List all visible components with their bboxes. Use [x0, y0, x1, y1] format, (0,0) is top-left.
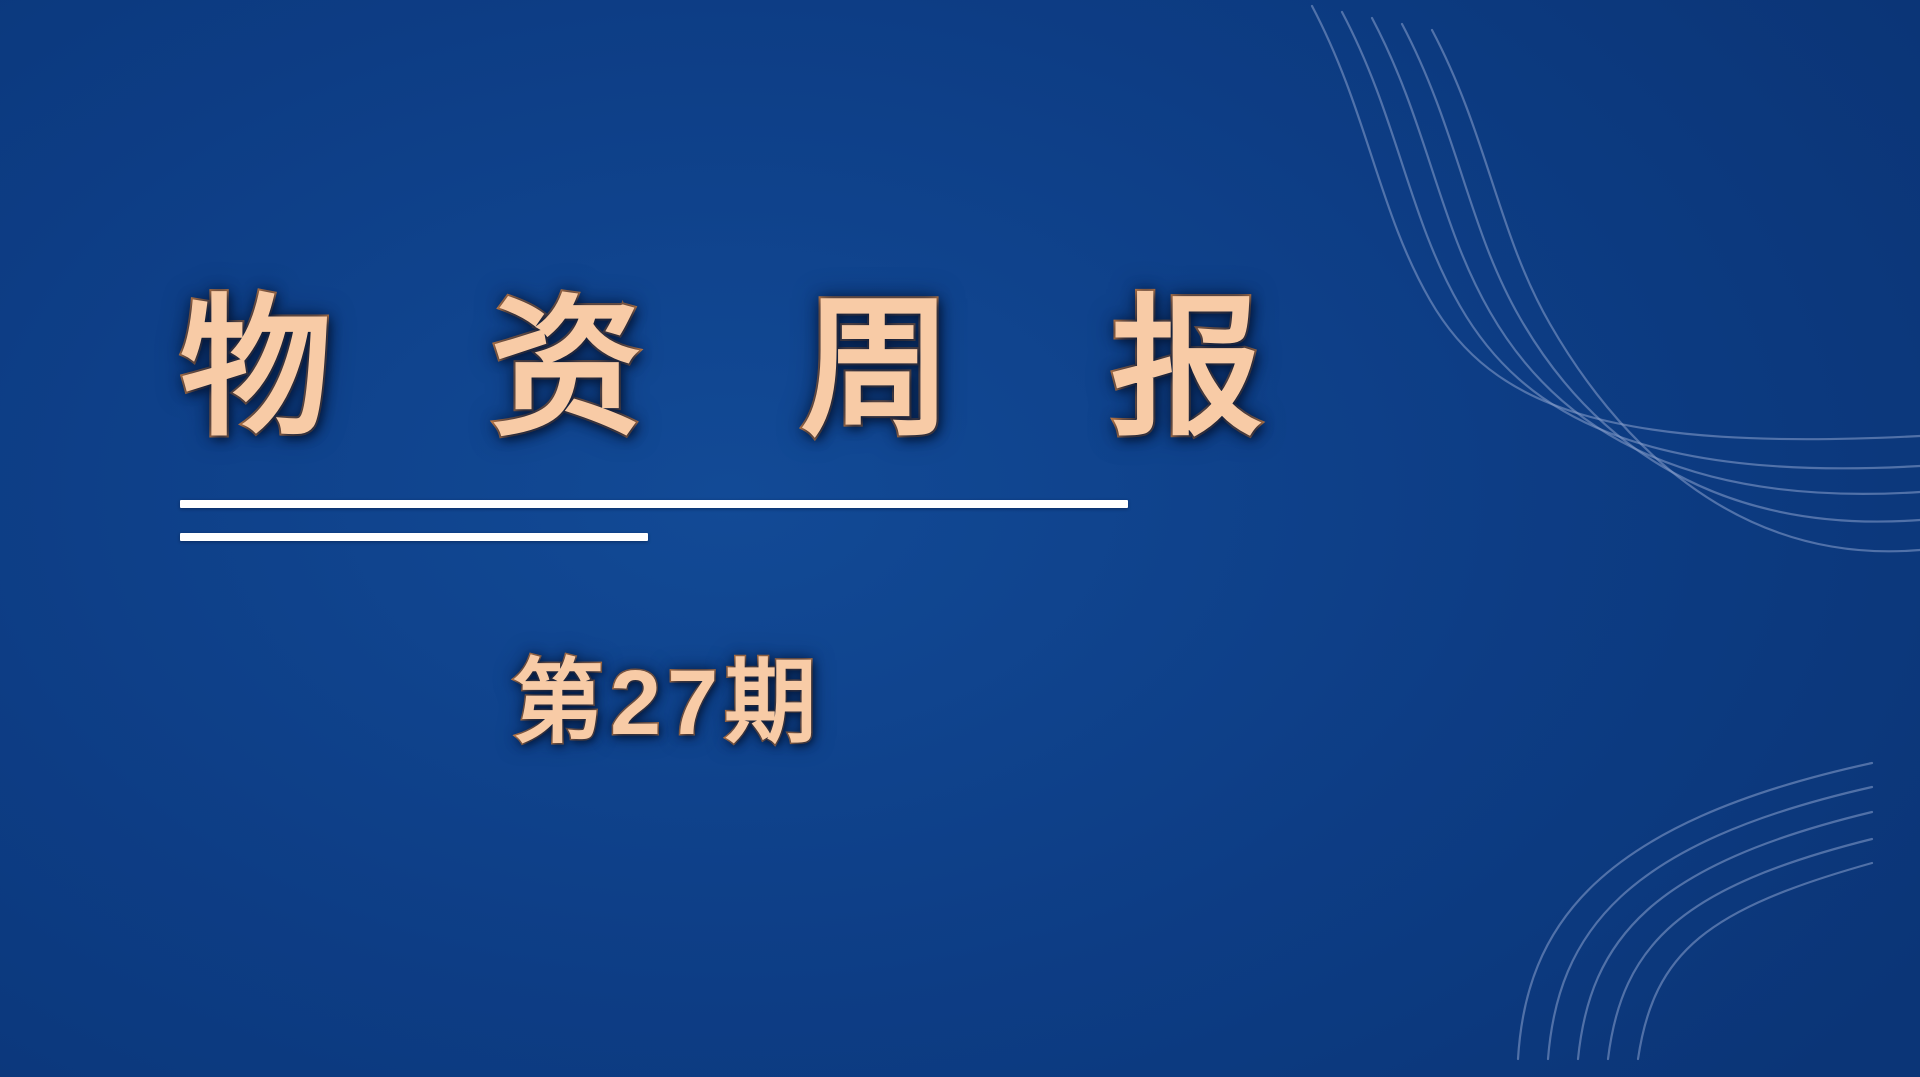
arc-line-2 — [1548, 787, 1872, 1059]
title-block: 物 资 周 报 — [180, 280, 1180, 459]
arc-line-1 — [1518, 763, 1872, 1059]
subtitle-block: 第27期 — [512, 648, 822, 758]
issue-number-label: 第27期 — [512, 648, 822, 758]
arc-line-3 — [1578, 812, 1872, 1059]
title-underline-short — [180, 533, 648, 541]
arc-lines-icon — [1500, 717, 1920, 1077]
arc-line-4 — [1608, 839, 1872, 1059]
page-title: 物 资 周 报 — [180, 280, 1180, 459]
flowing-curve-lines-icon — [1260, 0, 1920, 640]
curve-line-3 — [1372, 18, 1920, 494]
title-underline-long — [180, 500, 1128, 508]
curve-line-4 — [1402, 24, 1920, 522]
title-underlines — [180, 500, 1128, 541]
curve-line-1 — [1312, 6, 1920, 439]
title-slide: 物 资 周 报 第27期 — [0, 0, 1920, 1077]
arc-line-5 — [1638, 863, 1872, 1059]
curve-line-5 — [1432, 30, 1920, 551]
curve-line-2 — [1342, 12, 1920, 468]
